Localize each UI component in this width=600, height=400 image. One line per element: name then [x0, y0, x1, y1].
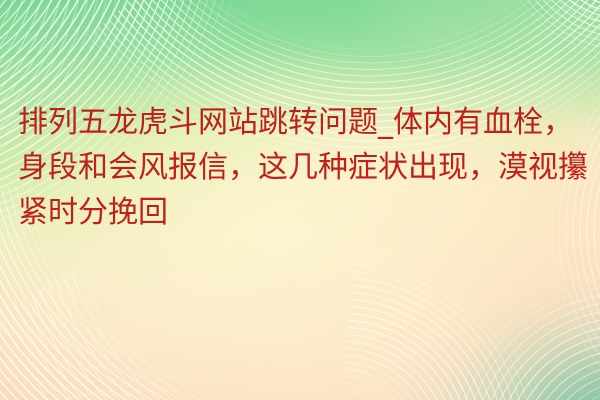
- decorative-stripes-bottom-right: [300, 250, 600, 400]
- decorative-stripes-bottom-left: [0, 230, 410, 400]
- promo-banner: 排列五龙虎斗网站跳转问题_体内有血栓，身段和会风报信，这几种症状出现，漠视攥紧时…: [0, 0, 600, 400]
- banner-headline: 排列五龙虎斗网站跳转问题_体内有血栓，身段和会风报信，这几种症状出现，漠视攥紧时…: [18, 100, 590, 235]
